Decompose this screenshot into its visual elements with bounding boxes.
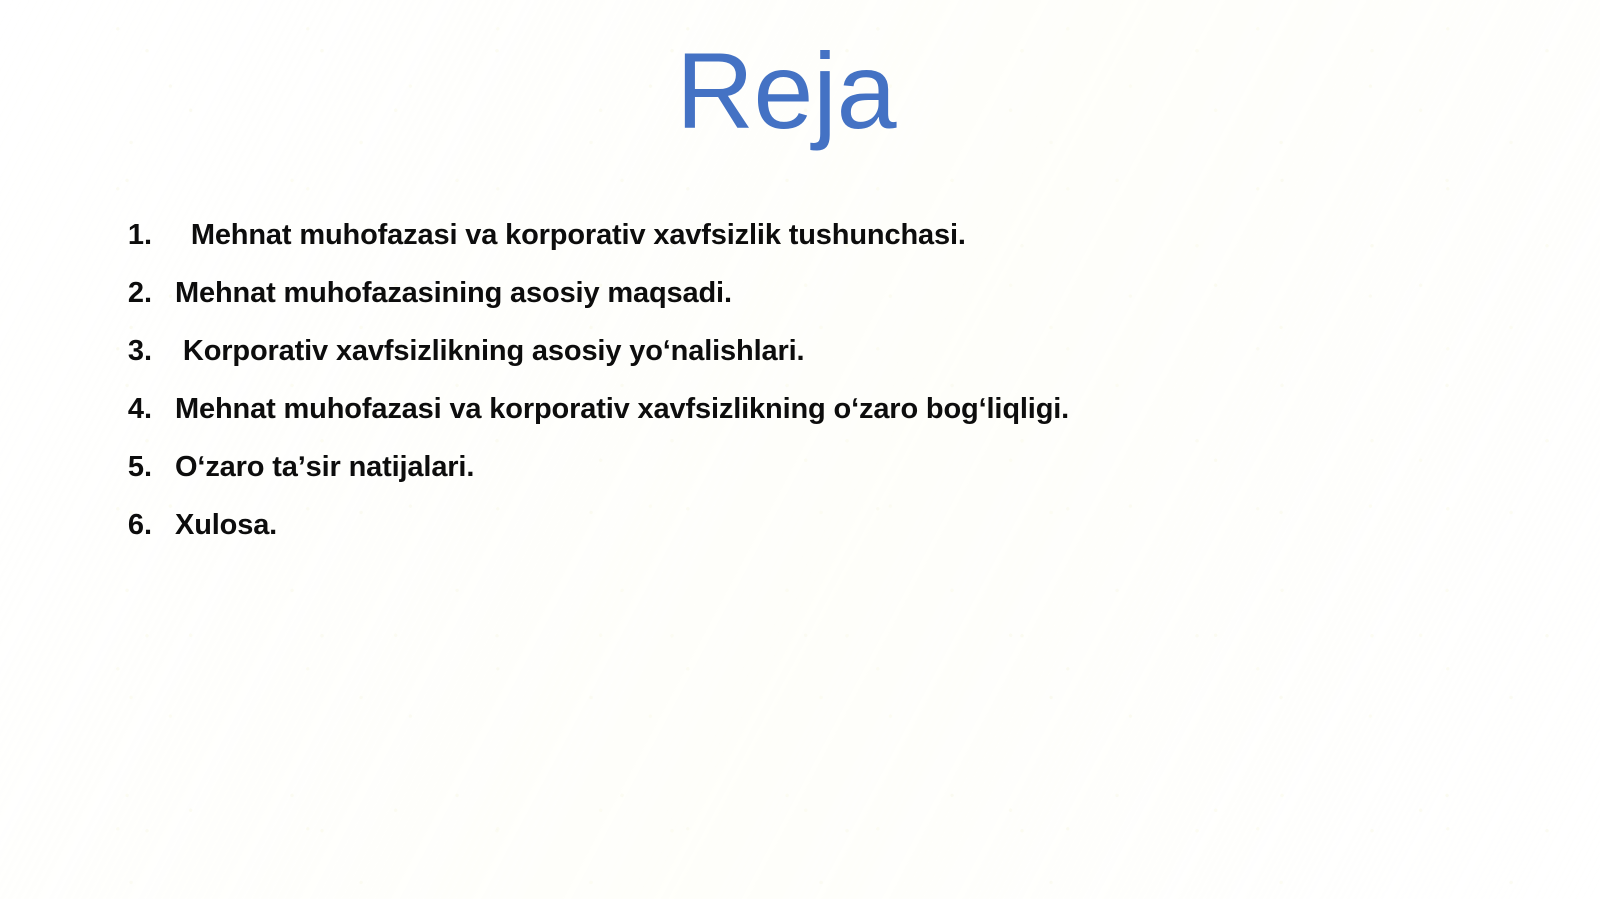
list-item-label: Oʻzaro taʼsir natijalari.: [152, 438, 1560, 496]
list-item-label: Xulosa.: [152, 496, 1560, 554]
list-item-label: Korporativ xavfsizlikning asosiy yoʻnali…: [152, 322, 1560, 380]
list-item: 6. Xulosa.: [0, 496, 1560, 554]
list-item-label: Mehnat muhofazasi va korporativ xavfsizl…: [152, 206, 1560, 264]
list-item-number: 4.: [0, 380, 152, 438]
list-item-number: 1.: [0, 206, 152, 264]
list-item-label: Mehnat muhofazasi va korporativ xavfsizl…: [152, 380, 1560, 438]
presentation-slide: Reja 1. Mehnat muhofazasi va korporativ …: [0, 0, 1600, 899]
list-item-label: Mehnat muhofazasining asosiy maqsadi.: [152, 264, 1560, 322]
list-item-number: 6.: [0, 496, 152, 554]
list-item-number: 3.: [0, 322, 152, 380]
list-item-number: 5.: [0, 438, 152, 496]
title-block: Reja: [0, 34, 1572, 147]
list-item-number: 2.: [0, 264, 152, 322]
list-item: 5. Oʻzaro taʼsir natijalari.: [0, 438, 1560, 496]
list-item: 4. Mehnat muhofazasi va korporativ xavfs…: [0, 380, 1560, 438]
list-item: 1. Mehnat muhofazasi va korporativ xavfs…: [0, 206, 1560, 264]
list-item: 2. Mehnat muhofazasining asosiy maqsadi.: [0, 264, 1560, 322]
page-title: Reja: [676, 34, 896, 147]
list-item: 3. Korporativ xavfsizlikning asosiy yoʻn…: [0, 322, 1560, 380]
plan-list: 1. Mehnat muhofazasi va korporativ xavfs…: [0, 206, 1560, 554]
